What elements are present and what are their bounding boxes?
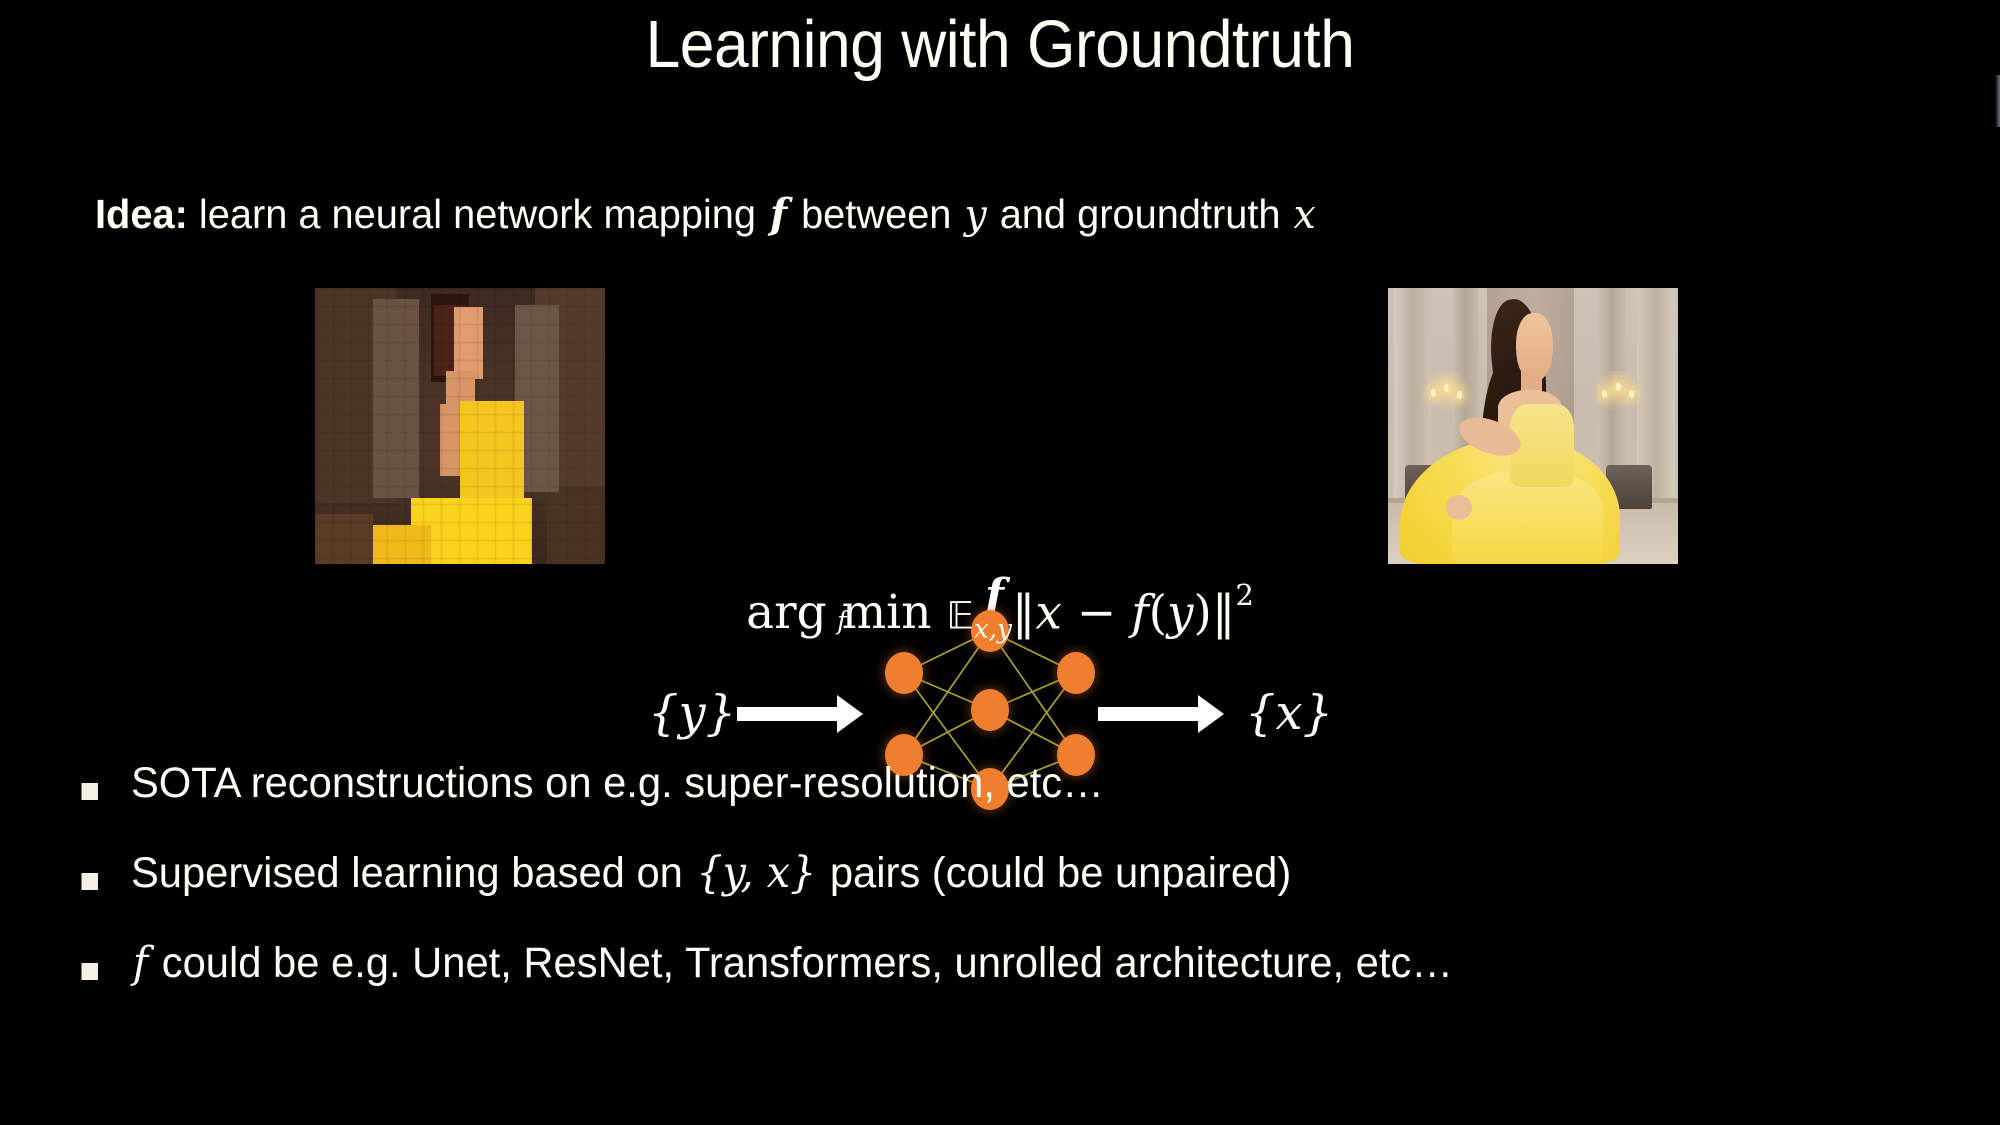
equation-argmin: arg min f — [746, 585, 931, 640]
idea-text-2: between — [801, 191, 951, 237]
bullet-marker-icon — [81, 783, 97, 800]
low-resolution-image-content — [315, 288, 605, 564]
objective-equation: arg min f 𝔼x,y‖x − f(y)‖2 — [0, 578, 2000, 645]
arrow-head — [1198, 695, 1224, 733]
equation-term-x: x — [1035, 585, 1062, 640]
page-title: Learning with Groundtruth — [70, 6, 1930, 83]
bullet-text: f could be e.g. Unet, ResNet, Transforme… — [131, 942, 1453, 985]
idea-text-1: learn a neural network mapping — [199, 191, 756, 237]
output-set-label: {x} — [1245, 685, 1333, 741]
list-item: SOTA reconstructions on e.g. super-resol… — [0, 762, 1940, 852]
bullet-text-part: Supervised learning based on — [131, 849, 694, 897]
arrow-head — [837, 695, 863, 733]
list-item: Supervised learning based on {y, x} pair… — [0, 852, 1940, 942]
equation-exponent: 2 — [1235, 578, 1254, 612]
bullet-text: SOTA reconstructions on e.g. super-resol… — [131, 762, 1104, 805]
hr-sconce-left — [1426, 371, 1467, 415]
idea-label: Idea: — [95, 191, 188, 237]
bullet-marker-icon — [81, 963, 97, 980]
arrow-shaft — [1098, 707, 1198, 721]
idea-text-3: and groundtruth — [1000, 191, 1281, 237]
hr-flame — [1629, 390, 1634, 398]
equation-expectation-subscript: x,y — [974, 615, 1012, 645]
screen-edge-artifact — [1995, 75, 2000, 127]
equation-term-y: y — [1167, 585, 1194, 640]
idea-statement: Idea: learn a neural network mapping f b… — [95, 192, 1318, 237]
lr-pixelation-overlay — [315, 288, 605, 564]
equation-paren-close: ) — [1194, 585, 1212, 640]
hr-flame — [1602, 390, 1607, 398]
high-resolution-image — [1388, 288, 1678, 564]
network-node-input-1 — [885, 652, 923, 694]
arrow-shaft — [737, 707, 837, 721]
network-node-output-1 — [1057, 652, 1095, 694]
high-resolution-image-content — [1388, 288, 1678, 564]
idea-var-x: x — [1292, 190, 1318, 238]
bullet-list: SOTA reconstructions on e.g. super-resol… — [0, 762, 2000, 1032]
bullet-text: Supervised learning based on {y, x} pair… — [131, 852, 1291, 895]
low-resolution-image — [315, 288, 605, 564]
idea-var-y: y — [962, 190, 988, 238]
equation-minus: − — [1077, 585, 1116, 640]
hr-flame — [1616, 383, 1621, 391]
equation-min-subscript: f — [837, 605, 846, 635]
bullet-text-part: could be e.g. Unet, ResNet, Transformers… — [150, 939, 1453, 987]
slide-canvas: Learning with Groundtruth Idea: learn a … — [0, 0, 2000, 1125]
hr-flame — [1444, 384, 1449, 392]
hr-flame — [1457, 391, 1462, 399]
idea-var-f: f — [767, 190, 790, 238]
equation-norm-open: ‖ — [1012, 585, 1036, 640]
bullet-math-f: f — [131, 938, 150, 988]
hr-sconce-right — [1597, 371, 1638, 415]
bullet-marker-icon — [81, 873, 97, 890]
equation-expectation-symbol: 𝔼 — [946, 593, 973, 637]
bullet-math-pair: {y, x} — [694, 848, 818, 898]
equation-paren-open: ( — [1149, 585, 1167, 640]
network-node-hidden-2 — [971, 689, 1009, 731]
pipeline-figure: {y} f — [0, 285, 2000, 575]
hr-flame — [1431, 389, 1436, 397]
equation-function: f — [1131, 585, 1148, 640]
equation-norm-close: ‖ — [1212, 585, 1236, 640]
bullet-text-part: pairs (could be unpaired) — [818, 849, 1291, 897]
list-item: f could be e.g. Unet, ResNet, Transforme… — [0, 942, 1940, 1032]
input-set-label: {y} — [648, 685, 736, 741]
hr-hand — [1446, 495, 1472, 520]
